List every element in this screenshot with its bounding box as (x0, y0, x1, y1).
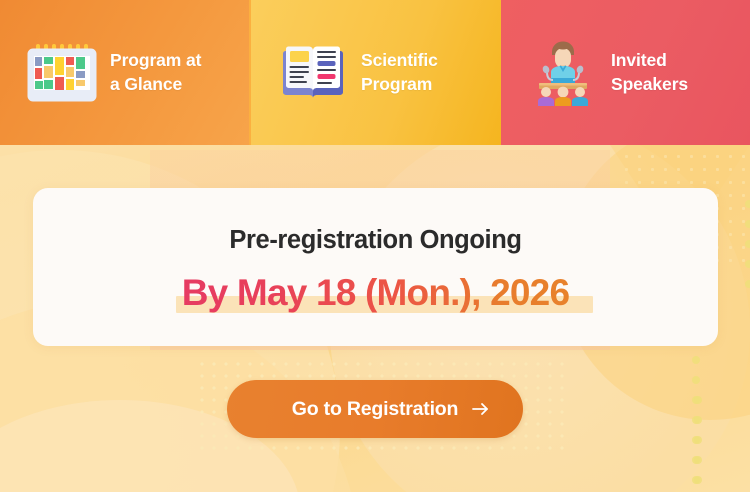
deadline-date: By May 18 (Mon.), 2026 (182, 272, 570, 314)
panel-title: Pre-registration Ongoing (229, 226, 521, 255)
background-dot-column-2 (694, 396, 702, 492)
nav-card-invited-speakers[interactable]: Invited Speakers (501, 0, 750, 145)
calendar-schedule-icon (28, 38, 96, 108)
speaker-podium-audience-icon (529, 38, 597, 108)
nav-card-scientific-program[interactable]: Scientific Program (251, 0, 501, 145)
nav-card-label: Scientific Program (361, 49, 438, 96)
nav-card-label: Invited Speakers (611, 49, 688, 96)
nav-card-label: Program at a Glance (110, 49, 201, 96)
cta-label: Go to Registration (292, 398, 458, 421)
deadline-date-wrapper: By May 18 (Mon.), 2026 (176, 272, 576, 314)
open-book-icon (279, 38, 347, 108)
promo-banner: Program at a Glance (0, 0, 750, 492)
registration-panel: Pre-registration Ongoing By May 18 (Mon.… (33, 188, 718, 346)
background-dot-column-3 (745, 200, 750, 288)
nav-card-row: Program at a Glance (0, 0, 750, 145)
arrow-right-icon (472, 400, 490, 418)
go-to-registration-button[interactable]: Go to Registration (227, 380, 523, 438)
nav-card-program-at-a-glance[interactable]: Program at a Glance (0, 0, 249, 145)
